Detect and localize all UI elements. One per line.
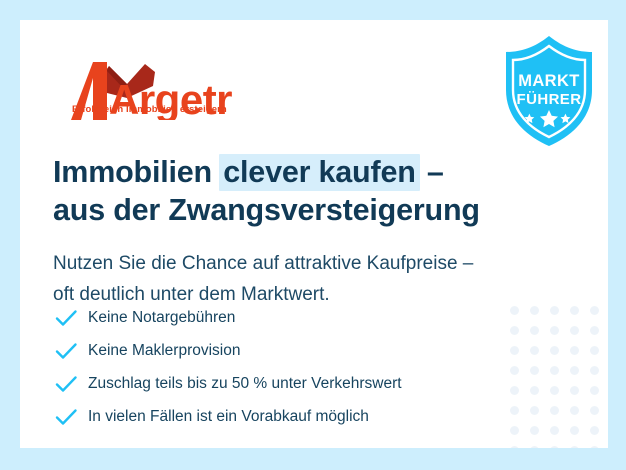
decorative-dot [570,446,579,449]
list-item: In vielen Fällen ist ein Vorabkauf mögli… [53,400,523,433]
decorative-dot [570,326,579,335]
page-headline: Immobilien clever kaufen – aus der Zwang… [53,153,553,229]
decorative-dot [570,346,579,355]
decorative-dot [570,426,579,435]
decorative-dot [570,386,579,395]
decorative-dot [570,366,579,375]
benefit-label: Keine Maklerprovision [88,343,241,359]
check-icon [53,338,79,364]
decorative-dot [590,446,599,449]
decorative-dot [590,306,599,315]
list-item: Zuschlag teils bis zu 50 % unter Verkehr… [53,367,523,400]
list-item: Keine Notargebühren [53,301,523,334]
decorative-dot [530,406,539,415]
decorative-dot [530,346,539,355]
decorative-dot [550,426,559,435]
headline-line-2: aus der Zwangsversteigerung [53,191,553,229]
decorative-dot [590,366,599,375]
decorative-dot [550,386,559,395]
logo-tagline: Erfolgreich Immobilien ersteigern [72,104,227,115]
benefit-label: Zuschlag teils bis zu 50 % unter Verkehr… [88,376,402,392]
badge-line2-text: FÜHRER [517,91,582,108]
marktfuehrer-badge: MARKT FÜHRER [490,30,608,152]
benefit-label: In vielen Fällen ist ein Vorabkauf mögli… [88,409,369,425]
decorative-dot [550,326,559,335]
subheadline-line-1: Nutzen Sie die Chance auf attraktive Kau… [53,248,553,279]
decorative-dot [530,386,539,395]
decorative-dot [590,386,599,395]
decorative-dot [510,446,519,449]
decorative-dot [530,446,539,449]
decorative-dot [590,426,599,435]
decorative-dot [550,346,559,355]
list-item: Keine Maklerprovision [53,334,523,367]
benefits-list: Keine Notargebühren Keine Maklerprovisio… [53,301,523,433]
check-icon [53,371,79,397]
decorative-dot [550,406,559,415]
decorative-dot [590,406,599,415]
decorative-dot [530,326,539,335]
benefit-label: Keine Notargebühren [88,310,235,326]
headline-highlight: clever kaufen [219,154,419,191]
decorative-dot [570,306,579,315]
decorative-dot [570,406,579,415]
headline-line1-after: – [419,155,444,189]
decorative-dot [530,366,539,375]
check-icon [53,305,79,331]
check-icon [53,404,79,430]
headline-line-1: Immobilien clever kaufen – [53,153,553,191]
page-frame: Argetra Erfolgreich Immobilien ersteiger… [0,0,626,470]
decorative-dot [590,326,599,335]
decorative-dot [550,366,559,375]
decorative-dot [530,426,539,435]
decorative-dot [550,446,559,449]
headline-line1-before: Immobilien [53,155,220,189]
promo-card: Argetra Erfolgreich Immobilien ersteiger… [20,20,608,448]
argetra-logo[interactable]: Argetra Erfolgreich Immobilien ersteiger… [53,42,233,120]
decorative-dot [590,346,599,355]
badge-line1-text: MARKT [518,72,580,90]
